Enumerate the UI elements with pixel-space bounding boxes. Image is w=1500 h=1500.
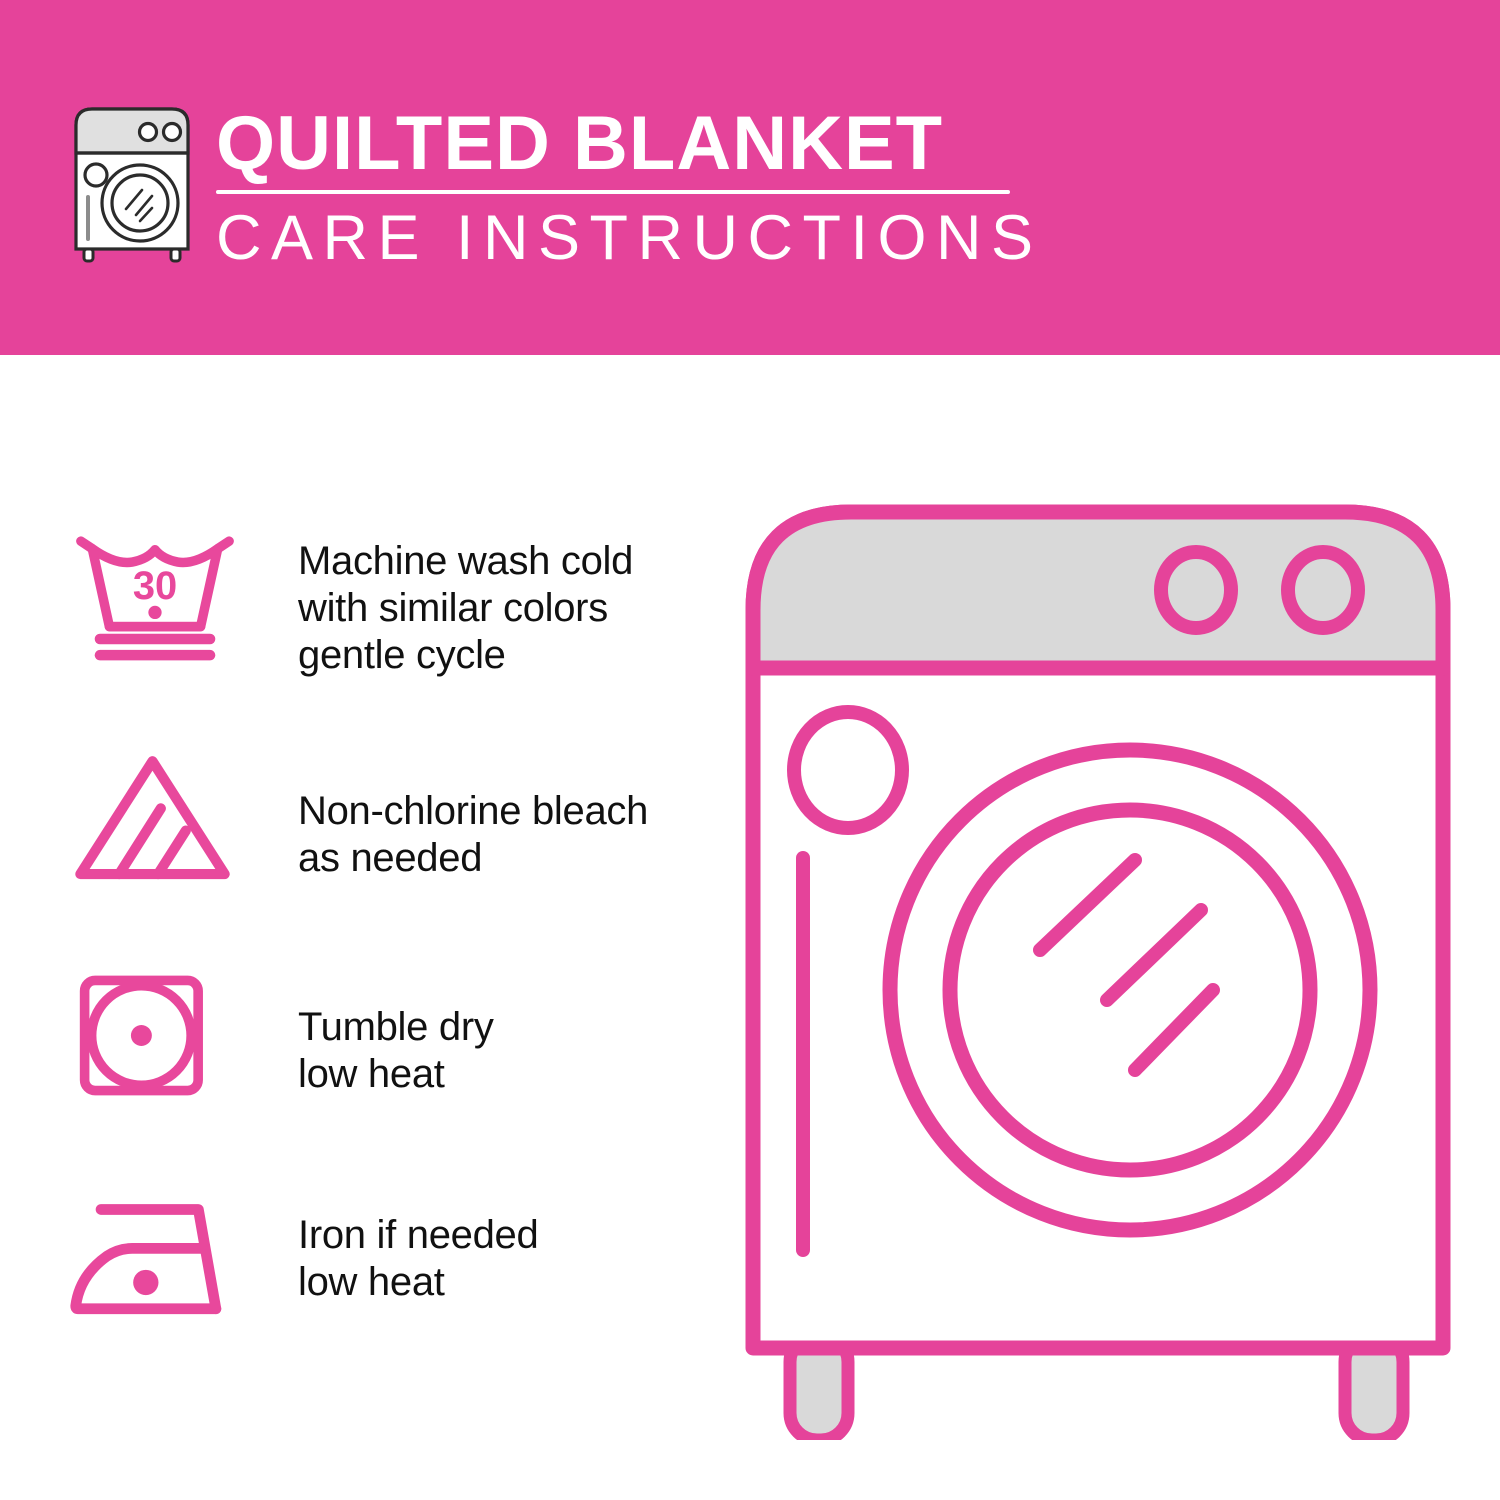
header-title-block: QUILTED BLANKET CARE INSTRUCTIONS bbox=[216, 104, 1016, 272]
care-row-bleach: Non-chlorine bleach as needed bbox=[60, 750, 720, 889]
washing-machine-icon bbox=[62, 103, 202, 263]
care-row-wash: 30 Machine wash cold with similar colors… bbox=[60, 520, 720, 679]
care-instructions-infographic: QUILTED BLANKET CARE INSTRUCTIONS bbox=[0, 0, 1500, 1500]
care-label-bleach: Non-chlorine bleach as needed bbox=[260, 750, 648, 882]
care-row-iron: Iron if needed low heat bbox=[60, 1190, 720, 1336]
knob-right bbox=[1288, 552, 1358, 628]
care-label-tumble-dry: Tumble dry low heat bbox=[260, 970, 494, 1098]
care-label-iron: Iron if needed low heat bbox=[260, 1190, 538, 1306]
title-divider bbox=[216, 190, 1010, 194]
iron-low-heat-icon bbox=[60, 1190, 260, 1336]
wash-tub-30-icon: 30 bbox=[60, 520, 260, 663]
tumble-dry-low-icon bbox=[60, 970, 260, 1101]
front-load-washing-machine-illustration bbox=[735, 490, 1465, 1440]
wash-temperature-text: 30 bbox=[133, 564, 177, 608]
knob-left bbox=[1161, 552, 1231, 628]
header-banner: QUILTED BLANKET CARE INSTRUCTIONS bbox=[0, 0, 1500, 355]
page-title: QUILTED BLANKET bbox=[216, 104, 1016, 184]
page-subtitle: CARE INSTRUCTIONS bbox=[216, 204, 1016, 272]
detergent-drawer-knob bbox=[794, 712, 902, 828]
bleach-triangle-icon bbox=[60, 750, 260, 889]
care-label-wash: Machine wash cold with similar colors ge… bbox=[260, 520, 633, 679]
care-row-tumble-dry: Tumble dry low heat bbox=[60, 970, 720, 1101]
